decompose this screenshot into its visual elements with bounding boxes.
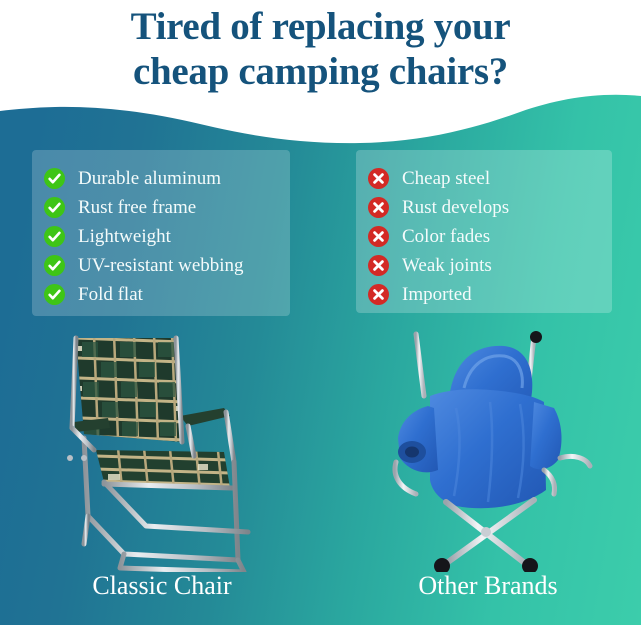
check-circle-icon [44,168,65,189]
headline-line-2: cheap camping chairs? [0,49,641,94]
classic-chair-image [48,330,284,572]
cons-panel: Cheap steel Rust develops Color fades We… [356,150,612,313]
list-item: Fold flat [44,280,280,309]
cross-circle-icon [368,226,389,247]
check-circle-icon [44,255,65,276]
cross-circle-icon [368,284,389,305]
list-item-label: Color fades [402,226,490,247]
list-item: Rust free frame [44,193,280,222]
list-item-label: Cheap steel [402,168,490,189]
page-title: Tired of replacing your cheap camping ch… [0,4,641,94]
cross-circle-icon [368,255,389,276]
infographic-root: Tired of replacing your cheap camping ch… [0,0,641,625]
check-circle-icon [44,226,65,247]
list-item: UV-resistant webbing [44,251,280,280]
list-item-label: UV-resistant webbing [78,255,244,276]
other-brands-caption: Other Brands [338,570,638,602]
list-item-label: Durable aluminum [78,168,221,189]
classic-chair-caption: Classic Chair [12,570,312,602]
headline-line-1: Tired of replacing your [131,5,511,48]
other-brands-chair-image [338,330,604,572]
check-circle-icon [44,284,65,305]
list-item: Imported [368,280,602,309]
list-item-label: Rust free frame [78,197,196,218]
list-item: Durable aluminum [44,164,280,193]
pros-panel: Durable aluminum Rust free frame Lightwe… [32,150,290,316]
list-item-label: Rust develops [402,197,509,218]
list-item: Lightweight [44,222,280,251]
list-item: Color fades [368,222,602,251]
cross-circle-icon [368,197,389,218]
list-item-label: Lightweight [78,226,171,247]
list-item: Cheap steel [368,164,602,193]
list-item-label: Fold flat [78,284,143,305]
list-item: Rust develops [368,193,602,222]
list-item-label: Weak joints [402,255,492,276]
cross-circle-icon [368,168,389,189]
list-item: Weak joints [368,251,602,280]
list-item-label: Imported [402,284,472,305]
check-circle-icon [44,197,65,218]
